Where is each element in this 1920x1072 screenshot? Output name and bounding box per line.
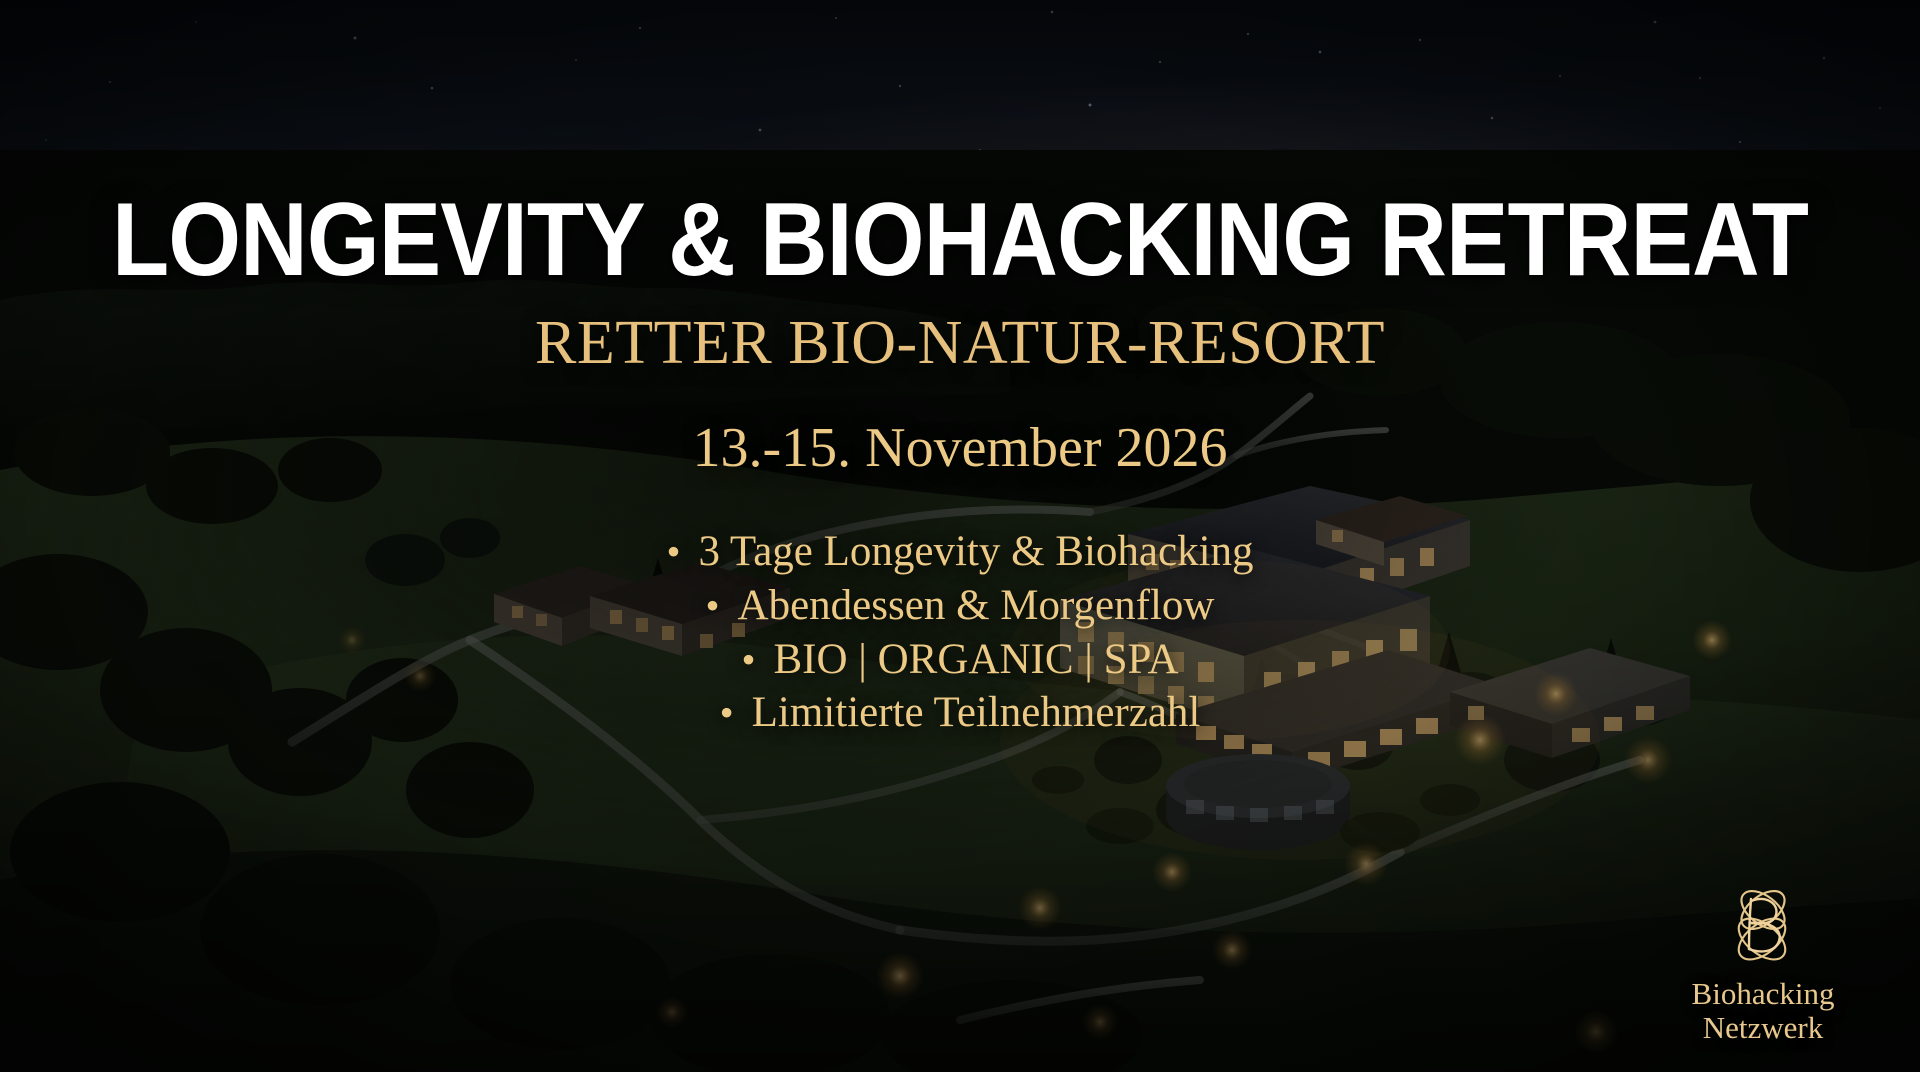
list-item: • 3 Tage Longevity & Biohacking (666, 525, 1253, 579)
feature-list: • 3 Tage Longevity & Biohacking • Abende… (0, 525, 1920, 740)
brand-name: Biohacking Netzwerk (1692, 977, 1835, 1046)
bullet-dot-icon: • (706, 586, 720, 626)
list-item-label: Limitierte Teilnehmerzahl (752, 686, 1201, 740)
list-item: • Abendessen & Morgenflow (706, 579, 1215, 633)
event-date: 13.-15. November 2026 (0, 420, 1920, 476)
poster-content: LONGEVITY & BIOHACKING RETREAT RETTER BI… (0, 0, 1920, 1072)
list-item: • Limitierte Teilnehmerzahl (720, 686, 1201, 740)
brand-logo: Biohacking Netzwerk (1658, 877, 1868, 1046)
list-item: • BIO | ORGANIC | SPA (741, 633, 1178, 687)
brand-name-line1: Biohacking (1692, 977, 1835, 1012)
list-item-label: 3 Tage Longevity & Biohacking (698, 525, 1253, 579)
bullet-dot-icon: • (720, 693, 734, 733)
page-title: LONGEVITY & BIOHACKING RETREAT (96, 188, 1824, 292)
promotional-poster: LONGEVITY & BIOHACKING RETREAT RETTER BI… (0, 0, 1920, 1072)
bullet-dot-icon: • (741, 640, 755, 680)
venue-subtitle: RETTER BIO-NATUR-RESORT (0, 312, 1920, 374)
list-item-label: BIO | ORGANIC | SPA (773, 633, 1178, 687)
biohacking-netzwerk-monogram-icon (1715, 877, 1811, 973)
brand-name-line2: Netzwerk (1692, 1011, 1835, 1046)
bullet-dot-icon: • (666, 532, 680, 572)
list-item-label: Abendessen & Morgenflow (738, 579, 1215, 633)
